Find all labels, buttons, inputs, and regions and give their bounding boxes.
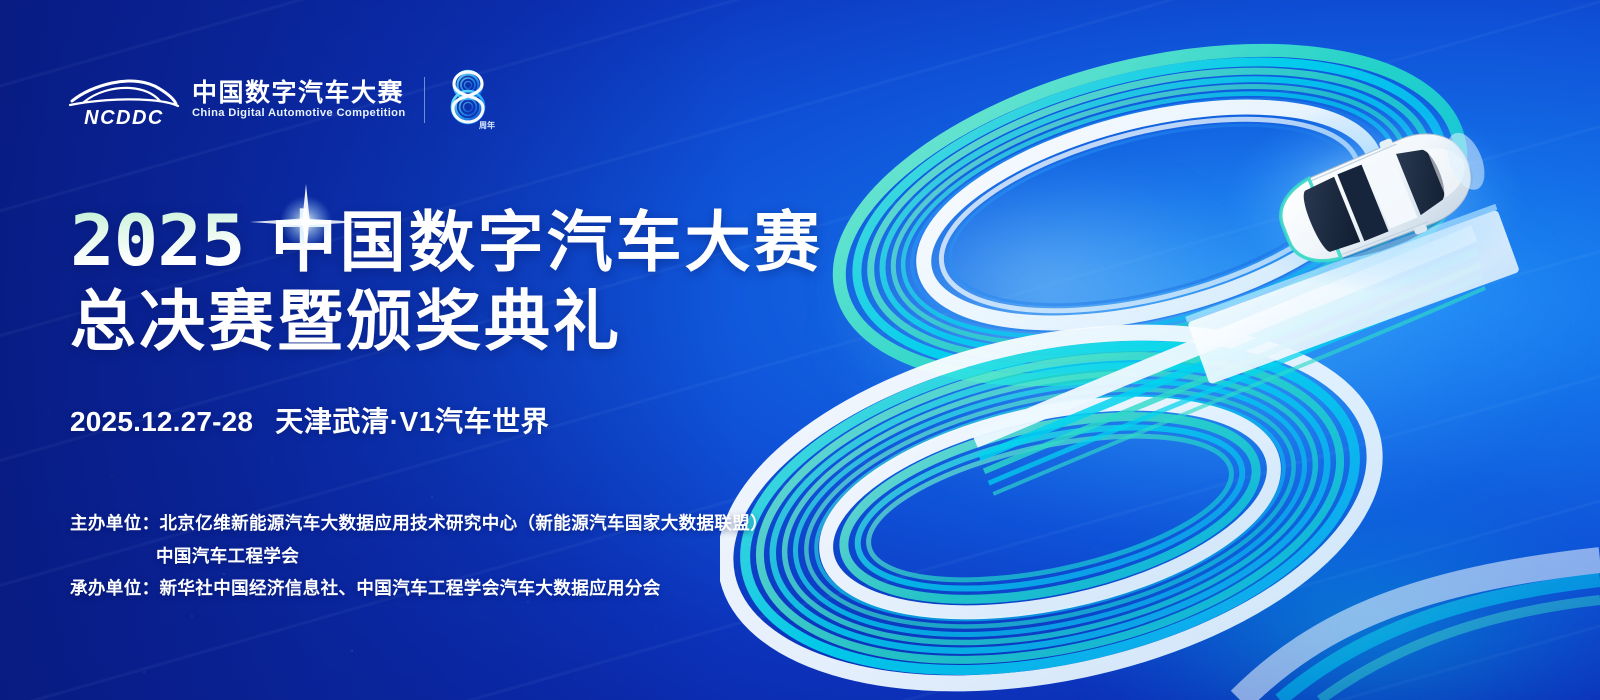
event-meta: 2025.12.27-28 天津武清·V1汽车世界 — [70, 400, 549, 440]
organizer-value: 新华社中国经济信息社、中国汽车工程学会汽车大数据应用分会 — [160, 580, 661, 598]
headline-title-cn: 中国数字汽车大赛 — [271, 209, 823, 275]
organizer-value: 中国汽车工程学会 — [156, 548, 299, 566]
headline-subtitle-cn: 总决赛暨颁奖典礼 — [70, 288, 870, 354]
organizers-block: 主办单位： 北京亿维新能源汽车大数据应用技术研究中心（新能源汽车国家大数据联盟）… — [70, 515, 768, 598]
organizer-row: 承办单位： 新华社中国经济信息社、中国汽车工程学会汽车大数据应用分会 — [70, 580, 768, 598]
organizer-value: 北京亿维新能源汽车大数据应用技术研究中心（新能源汽车国家大数据联盟） — [160, 515, 769, 533]
event-venue: 天津武清·V1汽车世界 — [275, 400, 549, 440]
organizer-row: 中国汽车工程学会 — [70, 548, 768, 566]
logo-divider — [424, 77, 425, 123]
anniversary-label-text: 周年 — [479, 120, 495, 130]
event-banner: NCDDC 中国数字汽车大赛 China Digital Automotive … — [0, 0, 1600, 700]
organizer-label: 主办单位： — [70, 515, 160, 533]
anniversary-badge-icon: 周年 — [441, 68, 497, 132]
svg-text:NCDDC: NCDDC — [84, 107, 164, 129]
organizer-row: 主办单位： 北京亿维新能源汽车大数据应用技术研究中心（新能源汽车国家大数据联盟） — [70, 515, 768, 533]
brand-name-block: 中国数字汽车大赛 China Digital Automotive Compet… — [192, 80, 406, 120]
headline-block: 2025 中国数字汽车大赛 — [70, 206, 870, 354]
car-silhouette-icon: NCDDC — [68, 71, 180, 129]
brand-name-en: China Digital Automotive Competition — [192, 107, 406, 119]
organizer-label: 承办单位： — [70, 580, 160, 598]
brand-name-cn: 中国数字汽车大赛 — [192, 80, 406, 106]
headline-year: 2025 — [70, 206, 244, 276]
brand-logo-lockup: NCDDC 中国数字汽车大赛 China Digital Automotive … — [68, 68, 497, 132]
headline-row-1: 2025 中国数字汽车大赛 — [70, 206, 870, 276]
event-date: 2025.12.27-28 — [70, 406, 253, 438]
banner-content: NCDDC 中国数字汽车大赛 China Digital Automotive … — [0, 0, 900, 700]
